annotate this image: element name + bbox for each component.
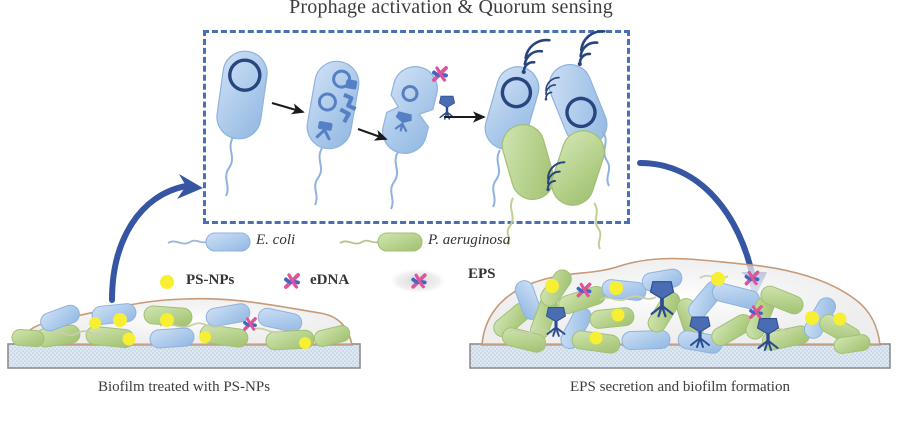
stage-arrow-2 (358, 129, 386, 139)
stage-arrow-1 (272, 103, 303, 112)
legend-icon-edna (286, 275, 298, 287)
legend-label-paeruginosa: P. aeruginosa (428, 232, 510, 249)
legend-label-psnps: PS-NPs (186, 272, 234, 289)
stage1-cell-with-prophage (214, 48, 270, 196)
left-biofilm-panel (8, 299, 360, 368)
stage3-cell-lysis (378, 62, 455, 209)
caption-left-biofilm: Biofilm treated with PS-NPs (0, 379, 368, 396)
qs-signal-icon (521, 37, 549, 77)
caption-right-biofilm: EPS secretion and biofilm formation (470, 379, 890, 396)
legend-icon-eps (388, 268, 448, 294)
legend-label-eps: EPS (468, 266, 496, 283)
legend-icon-psnps (160, 275, 174, 289)
legend-icon-ecoli (168, 233, 250, 251)
stage4-quorum-sensing-community (480, 29, 613, 249)
diagram-artwork (0, 0, 902, 426)
qs-signal-icon (577, 29, 604, 68)
right-biofilm-panel (470, 258, 890, 368)
released-edna (434, 68, 446, 80)
stage2-cell-phage-assembly (304, 58, 364, 205)
released-phage (439, 96, 454, 119)
figure-canvas: Prophage activation & Quorum sensing (0, 0, 902, 426)
legend-label-ecoli: E. coli (256, 232, 295, 249)
legend-icon-paeruginosa (340, 233, 422, 251)
legend-label-edna: eDNA (310, 272, 349, 289)
